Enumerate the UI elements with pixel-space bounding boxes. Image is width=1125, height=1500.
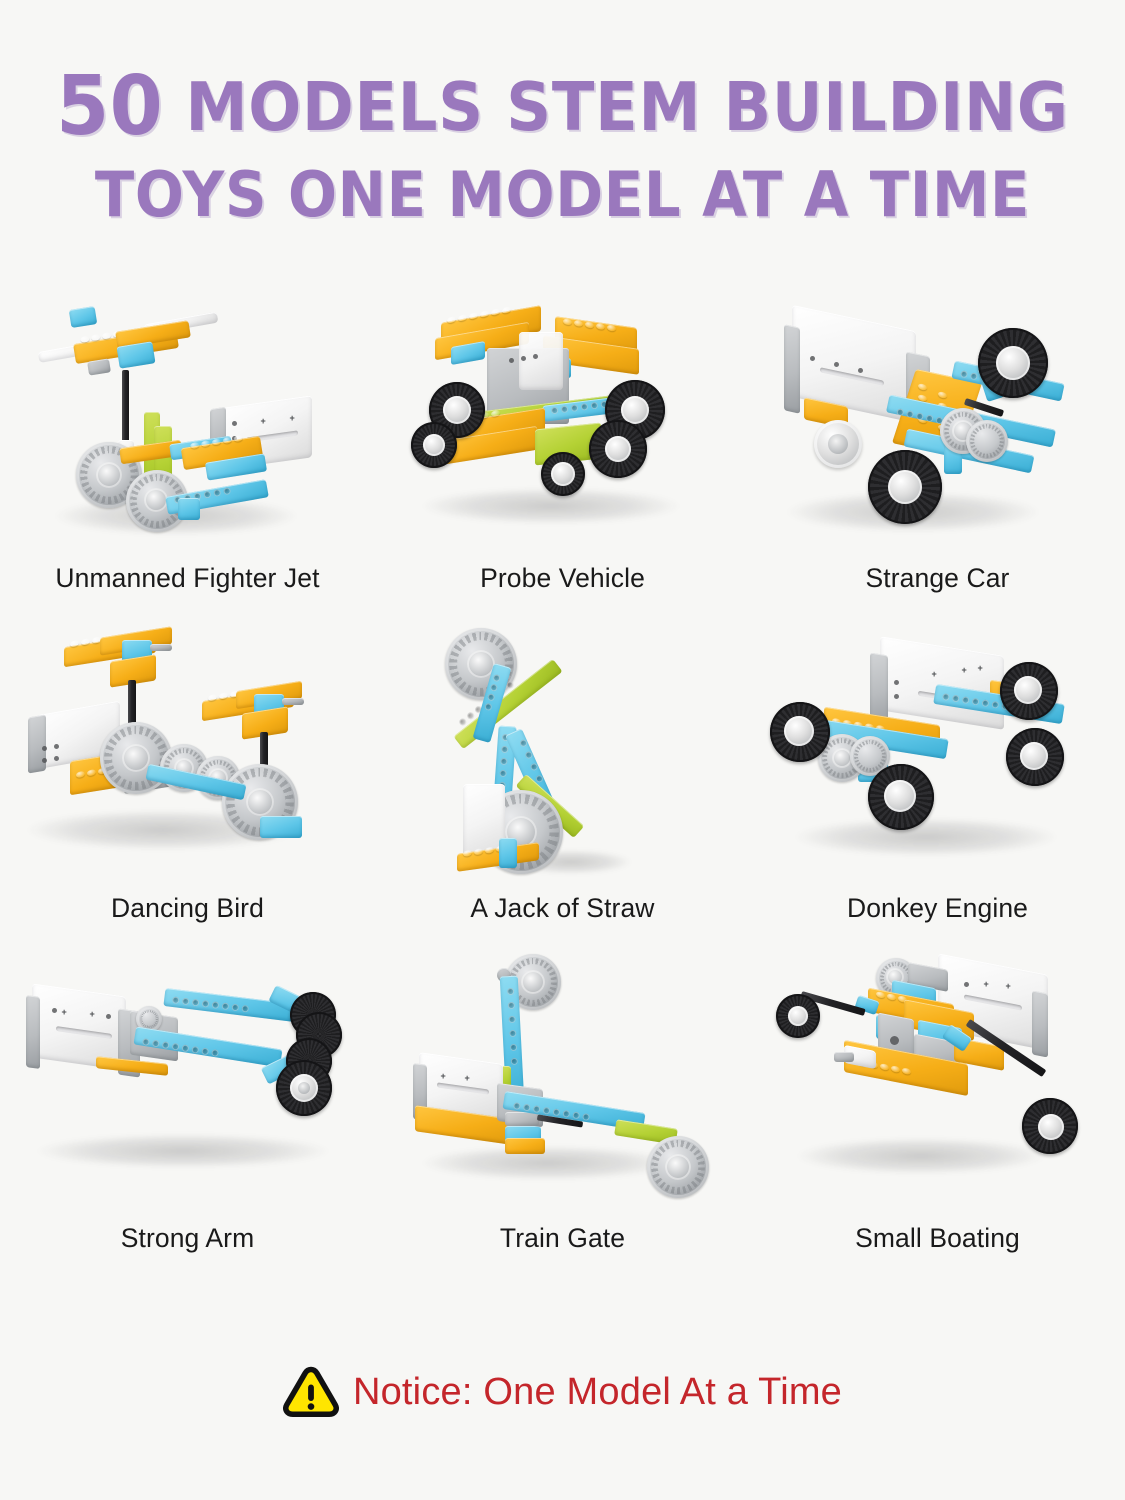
notice-text: Notice: One Model At a Time [353, 1371, 842, 1414]
model-cell-donkey-engine[interactable]: + + + [750, 598, 1125, 928]
headline-line-2: Toys One Model At a Time [39, 164, 1085, 226]
model-caption: Strong Arm [121, 1218, 255, 1258]
model-caption: Unmanned Fighter Jet [55, 558, 319, 598]
model-grid-row: + + [0, 268, 1125, 598]
page-title: 50 Models STEM Building Toys One Model A… [0, 0, 1125, 226]
model-image-strong-arm: + + [18, 952, 358, 1214]
model-cell-unmanned-fighter-jet[interactable]: + + [0, 268, 375, 598]
model-cell-dancing-bird[interactable]: Dancing Bird [0, 598, 375, 928]
headline-number: 50 [56, 59, 163, 154]
model-image-small-boating: + + [768, 952, 1108, 1214]
notice-banner: Notice: One Model At a Time [0, 1366, 1125, 1418]
model-caption: Donkey Engine [847, 888, 1028, 928]
model-image-probe-vehicle [393, 292, 733, 554]
model-image-train-gate: + + [393, 952, 733, 1214]
model-image-donkey-engine: + + + [768, 622, 1108, 884]
model-caption: Small Boating [855, 1218, 1020, 1258]
model-cell-train-gate[interactable]: + + Train Gate [375, 928, 750, 1258]
model-caption: Strange Car [866, 558, 1010, 598]
headline-line-1-rest: Models STEM Building [186, 68, 1069, 146]
model-grid: + + [0, 268, 1125, 1258]
model-caption: A Jack of Straw [470, 888, 654, 928]
warning-triangle-icon [283, 1366, 339, 1418]
model-caption: Dancing Bird [111, 888, 264, 928]
model-cell-probe-vehicle[interactable]: Probe Vehicle [375, 268, 750, 598]
model-cell-small-boating[interactable]: + + [750, 928, 1125, 1258]
model-grid-row: + + [0, 928, 1125, 1258]
model-grid-row: Dancing Bird [0, 598, 1125, 928]
headline-line-1: 50 Models STEM Building [39, 66, 1085, 148]
model-image-strange-car [768, 292, 1108, 554]
model-image-unmanned-fighter-jet: + + [18, 292, 358, 554]
model-cell-a-jack-of-straw[interactable]: A Jack of Straw [375, 598, 750, 928]
model-cell-strange-car[interactable]: Strange Car [750, 268, 1125, 598]
model-image-a-jack-of-straw [393, 622, 733, 884]
model-image-dancing-bird [18, 622, 358, 884]
model-cell-strong-arm[interactable]: + + [0, 928, 375, 1258]
model-caption: Train Gate [500, 1218, 625, 1258]
model-caption: Probe Vehicle [480, 558, 645, 598]
